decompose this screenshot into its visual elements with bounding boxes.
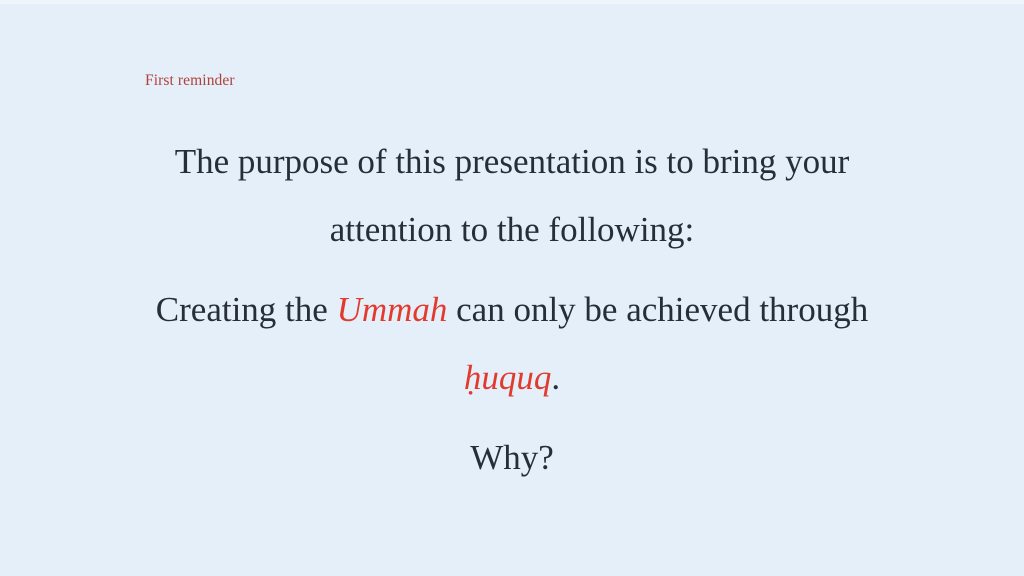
paragraph-ummah-huquq-period: . xyxy=(551,358,560,397)
highlight-ummah: Ummah xyxy=(337,290,448,329)
paragraph-ummah-huquq-part2: can only be achieved through xyxy=(447,290,868,329)
paragraph-ummah-huquq-part1: Creating the xyxy=(156,290,337,329)
paragraph-ummah-huquq: Creating the Ummah can only be achieved … xyxy=(136,276,888,412)
slide-canvas: First reminder The purpose of this prese… xyxy=(0,0,1024,576)
paragraph-why: Why? xyxy=(136,424,888,492)
paragraph-purpose: The purpose of this presentation is to b… xyxy=(136,128,888,264)
highlight-huquq: ḥuquq xyxy=(464,358,552,397)
slide-body: The purpose of this presentation is to b… xyxy=(136,128,888,492)
slide-kicker-label: First reminder xyxy=(145,71,235,91)
top-edge-band xyxy=(0,0,1024,4)
